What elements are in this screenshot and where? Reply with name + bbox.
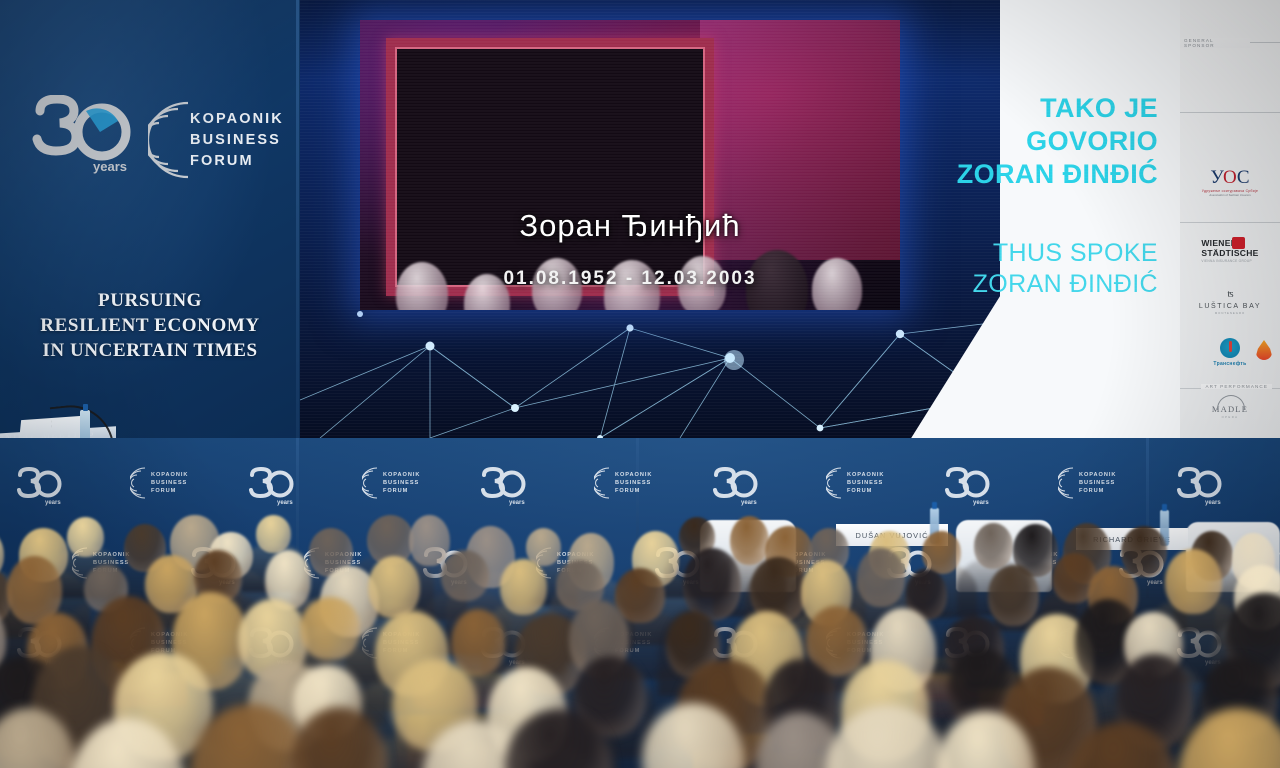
backdrop-30-years-icon: years <box>710 466 762 506</box>
sponsor-logo-lustica-bay: ʦ LUŠTICA BAY MONTENEGRO <box>1180 288 1280 315</box>
audience-member-head <box>500 559 546 615</box>
uos-sub-en: Association of Serbian Insurers <box>1180 193 1280 197</box>
backdrop-wall-left <box>0 0 300 440</box>
backdrop-30-years-icon: years <box>942 466 994 506</box>
screen-scanlines <box>300 0 1180 438</box>
anniversary-30-years-icon: years <box>30 95 140 183</box>
audience-member-head <box>1121 526 1167 577</box>
wiener-sub: VIENNA INSURANCE GROUP <box>1201 259 1258 263</box>
tagline-line-3: IN UNCERTAIN TIMES <box>0 338 300 363</box>
audience-member-head <box>988 565 1039 626</box>
kbf-logo-lockup: years KOPAONIK BUSINESS FORUM <box>30 95 270 195</box>
sponsor-caption-art: ART PERFORMANCE <box>1201 384 1272 389</box>
audience-member-head <box>922 531 961 574</box>
sponsor-logo-madlenianum: MADLE OPERA <box>1180 404 1280 419</box>
backdrop-30-years-icon: years <box>1174 466 1226 506</box>
kbf-wordmark-line2: BUSINESS <box>190 130 284 151</box>
madlenianum-sub: OPERA <box>1180 415 1280 419</box>
audience-member-head <box>441 550 489 601</box>
audience-member-head <box>300 597 359 659</box>
wiener-line-2: STÄDTISCHE <box>1201 248 1258 258</box>
audience-member-head <box>67 517 104 557</box>
sponsor-logo-wiener-stadtische: WIENER STÄDTISCHE VIENNA INSURANCE GROUP <box>1180 238 1280 267</box>
sponsor-caption-general: GENERAL SPONSOR <box>1180 38 1250 48</box>
transneft-mark-icon <box>1220 338 1240 358</box>
transneft-label: Транснефть <box>1180 361 1280 367</box>
kbf-wordmark-line3: FORUM <box>190 151 284 172</box>
audience-member-head <box>368 556 419 618</box>
backdrop-30-years-icon: years <box>478 466 530 506</box>
sponsor-logo-uos: УОС Удружење осигуравача Србије Associat… <box>1180 168 1280 197</box>
event-tagline: PURSUING RESILIENT ECONOMY IN UNCERTAIN … <box>0 288 300 363</box>
kbf-wordmark: KOPAONIK BUSINESS FORUM <box>190 109 284 172</box>
backdrop-kbf-logo-icon: KOPAONIKBUSINESSFORUM <box>1058 466 1116 500</box>
uos-mark: УОС <box>1180 168 1280 187</box>
kbf-arc-icon <box>148 97 192 183</box>
audience-member-head <box>409 515 449 566</box>
lustica-label: LUŠTICA BAY <box>1180 303 1280 310</box>
sponsor-board: GENERAL SPONSOR УОС Удружење осигуравача… <box>1180 0 1280 438</box>
backdrop-kbf-logo-icon: KOPAONIKBUSINESSFORUM <box>362 466 420 500</box>
backdrop-seam <box>296 0 299 440</box>
svg-text:years: years <box>93 159 127 174</box>
backdrop-kbf-logo-icon: KOPAONIKBUSINESSFORUM <box>130 466 188 500</box>
wiener-mark-icon <box>1232 237 1245 249</box>
backdrop-kbf-logo-icon: KOPAONIKBUSINESSFORUM <box>594 466 652 500</box>
audience-member-head <box>451 609 505 676</box>
tagline-line-1: PURSUING <box>0 288 300 313</box>
backdrop-kbf-logo-icon: KOPAONIKBUSINESSFORUM <box>826 466 884 500</box>
lustica-mark-icon: ʦ <box>1180 288 1280 300</box>
wiener-line-1: WIENER <box>1201 238 1258 248</box>
backdrop-30-years-icon: years <box>14 466 66 506</box>
audience <box>0 505 1280 768</box>
led-presentation-screen: Зоран Ђинђић 01.08.1952 - 12.03.2003 TAK… <box>300 0 1180 438</box>
conference-hall-photo: years KOPAONIK BUSINESS FORUM PURSUING R… <box>0 0 1280 768</box>
backdrop-30-years-icon: years <box>246 466 298 506</box>
tagline-line-2: RESILIENT ECONOMY <box>0 313 300 338</box>
audience-member-head <box>256 515 292 553</box>
lustica-sub: MONTENEGRO <box>1180 311 1280 315</box>
audience-member-head <box>1165 549 1222 615</box>
audience-member-head <box>974 523 1013 569</box>
kbf-wordmark-line1: KOPAONIK <box>190 109 284 130</box>
madlenianum-arc-icon <box>1217 395 1245 410</box>
audience-member-head <box>730 516 769 566</box>
audience-member-head <box>857 548 906 607</box>
audience-member-head <box>683 548 741 621</box>
